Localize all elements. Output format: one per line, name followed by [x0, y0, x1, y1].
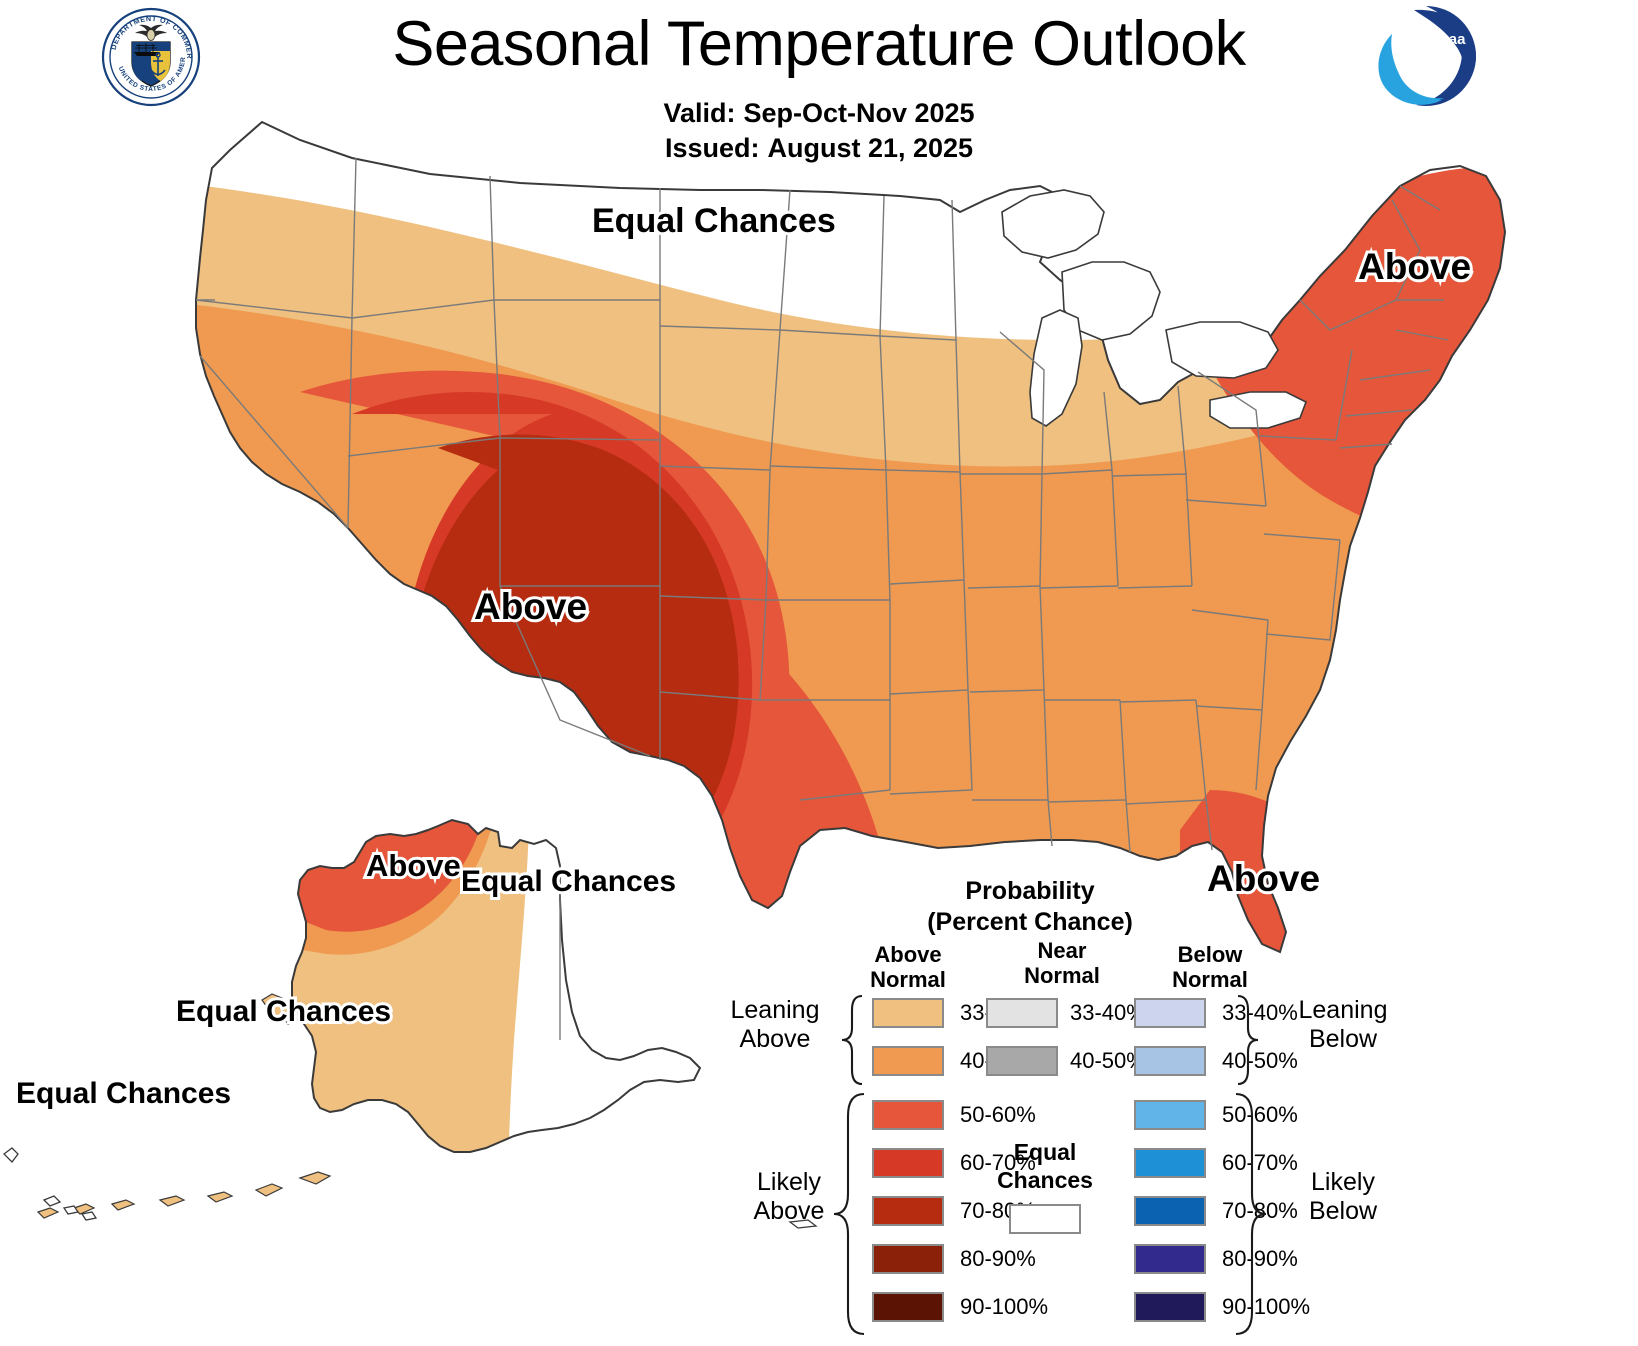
label-alaska-above: AboveAbove: [366, 850, 461, 882]
brace-likely-above: [834, 1094, 864, 1334]
label-conus-equal-chances: EqualEqual ChancesChances: [592, 204, 836, 239]
label-pacific-equal-chances: EqualEqual ChancesChances: [176, 996, 391, 1027]
brace-leaning-above: [842, 996, 862, 1084]
legend: Probability (Percent Chance) AboveNormal…: [730, 876, 1370, 1266]
label-conus-above: AboveAbove: [474, 588, 587, 626]
label-northeast-above: AboveAbove: [1358, 248, 1471, 286]
label-hawaii-equal-chances: EqualEqual ChancesChances: [16, 1078, 231, 1109]
legend-braces: [730, 876, 1370, 1346]
brace-likely-below: [1236, 1094, 1266, 1334]
aleutian-islands: [38, 1172, 330, 1218]
label-alaska-equal-chances: EqualEqual ChancesChances: [461, 866, 676, 897]
label-florida-above: AboveAbove: [1207, 860, 1320, 898]
outlook-page: DEPARTMENT OF COMMERCE UNITED STATES OF …: [0, 0, 1638, 1266]
brace-leaning-below: [1238, 996, 1258, 1084]
